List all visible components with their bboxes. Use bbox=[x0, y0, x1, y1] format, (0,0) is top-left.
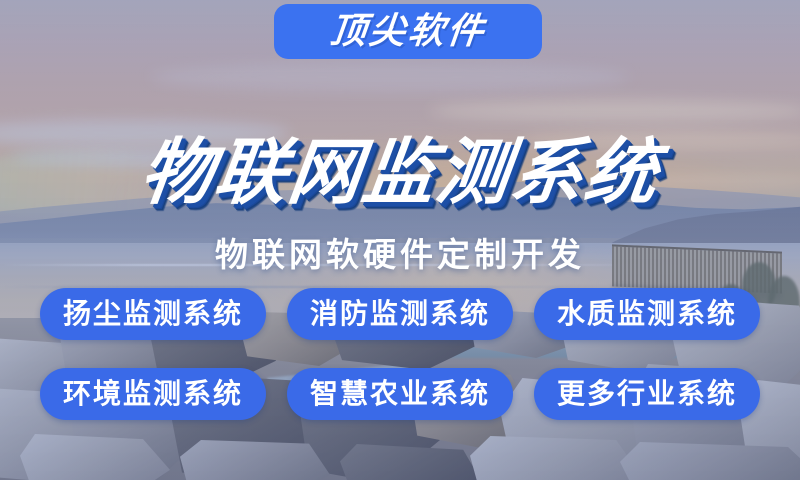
service-tag-smart-agriculture[interactable]: 智慧农业系统 bbox=[287, 368, 513, 420]
service-tag-environment-monitoring[interactable]: 环境监测系统 bbox=[40, 368, 266, 420]
service-tag-label: 更多行业系统 bbox=[557, 380, 737, 408]
brand-badge[interactable]: 顶尖软件 bbox=[274, 4, 542, 59]
page-title: 物联网监测系统 bbox=[0, 136, 800, 208]
service-tag-dust-monitoring[interactable]: 扬尘监测系统 bbox=[40, 288, 266, 340]
service-tag-label: 智慧农业系统 bbox=[310, 380, 490, 408]
service-tag-grid: 扬尘监测系统 消防监测系统 水质监测系统 环境监测系统 智慧农业系统 更多行业系… bbox=[40, 288, 760, 420]
service-tag-label: 水质监测系统 bbox=[557, 300, 737, 328]
brand-badge-label: 顶尖软件 bbox=[328, 14, 488, 50]
service-tag-water-quality-monitoring[interactable]: 水质监测系统 bbox=[534, 288, 760, 340]
service-tag-label: 环境监测系统 bbox=[63, 380, 243, 408]
service-tag-fire-monitoring[interactable]: 消防监测系统 bbox=[287, 288, 513, 340]
service-tag-label: 消防监测系统 bbox=[310, 300, 490, 328]
promo-banner: 顶尖软件 物联网监测系统 物联网软硬件定制开发 扬尘监测系统 消防监测系统 水质… bbox=[0, 0, 800, 480]
banner-content: 顶尖软件 物联网监测系统 物联网软硬件定制开发 扬尘监测系统 消防监测系统 水质… bbox=[0, 0, 800, 480]
page-subtitle: 物联网软硬件定制开发 bbox=[0, 235, 800, 275]
service-tag-more-industries[interactable]: 更多行业系统 bbox=[534, 368, 760, 420]
service-tag-label: 扬尘监测系统 bbox=[63, 300, 243, 328]
